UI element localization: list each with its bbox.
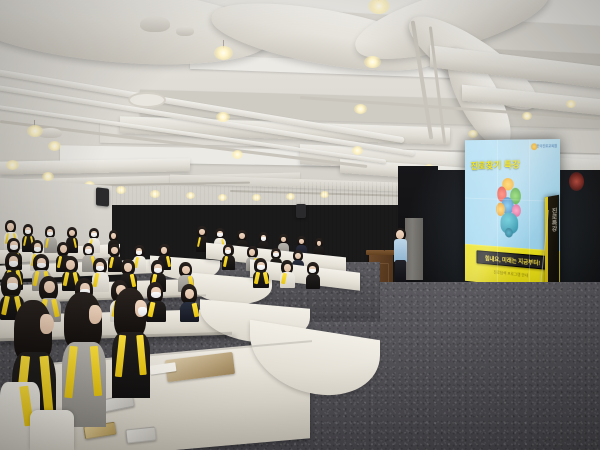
screen-bezel bbox=[497, 140, 498, 284]
pendant-light bbox=[214, 46, 233, 60]
slide-artwork bbox=[495, 178, 525, 235]
pendant-light bbox=[6, 160, 19, 170]
lecture-hall-photo: 한국진로교육원 진로찾기 특강 힘내요, 미래는 지금부터! 진로탐색 프로그램… bbox=[0, 0, 600, 450]
pendant-light bbox=[468, 130, 478, 138]
presenter-top bbox=[394, 239, 407, 262]
presenter-head bbox=[396, 230, 404, 239]
metal-duct bbox=[0, 158, 190, 174]
wall-speaker-icon bbox=[296, 204, 306, 218]
pendant-light bbox=[27, 125, 43, 137]
banner-text: 진로특강 bbox=[549, 207, 558, 233]
screen-bezel bbox=[529, 139, 530, 287]
slide-logo: 한국진로교육원 bbox=[537, 143, 558, 148]
presenter-skirt bbox=[395, 260, 406, 283]
attendee bbox=[112, 288, 150, 398]
exit-light-icon bbox=[569, 172, 584, 191]
attendee bbox=[306, 262, 320, 289]
pendant-light bbox=[364, 56, 381, 68]
pendant-light bbox=[352, 146, 363, 155]
ceiling-dome-fixture bbox=[140, 16, 170, 32]
chair-back bbox=[30, 410, 74, 450]
artwork-shape bbox=[505, 228, 513, 238]
pendant-light bbox=[48, 141, 61, 151]
pendant-light bbox=[42, 172, 54, 181]
pendant-light bbox=[566, 100, 576, 108]
attendee bbox=[222, 244, 235, 270]
pendant-light bbox=[232, 150, 243, 159]
attendee bbox=[62, 292, 106, 427]
wall-speaker-icon bbox=[96, 187, 109, 206]
attendee bbox=[253, 258, 269, 288]
pendant-light bbox=[522, 112, 532, 120]
pendant-light bbox=[216, 112, 230, 122]
attendee bbox=[280, 260, 295, 288]
attendee bbox=[180, 284, 199, 322]
ceiling-dome-fixture bbox=[176, 26, 194, 36]
slide-title: 진로찾기 특강 bbox=[471, 157, 520, 172]
pendant-light bbox=[354, 104, 367, 114]
recessed-ring-light bbox=[128, 92, 166, 108]
